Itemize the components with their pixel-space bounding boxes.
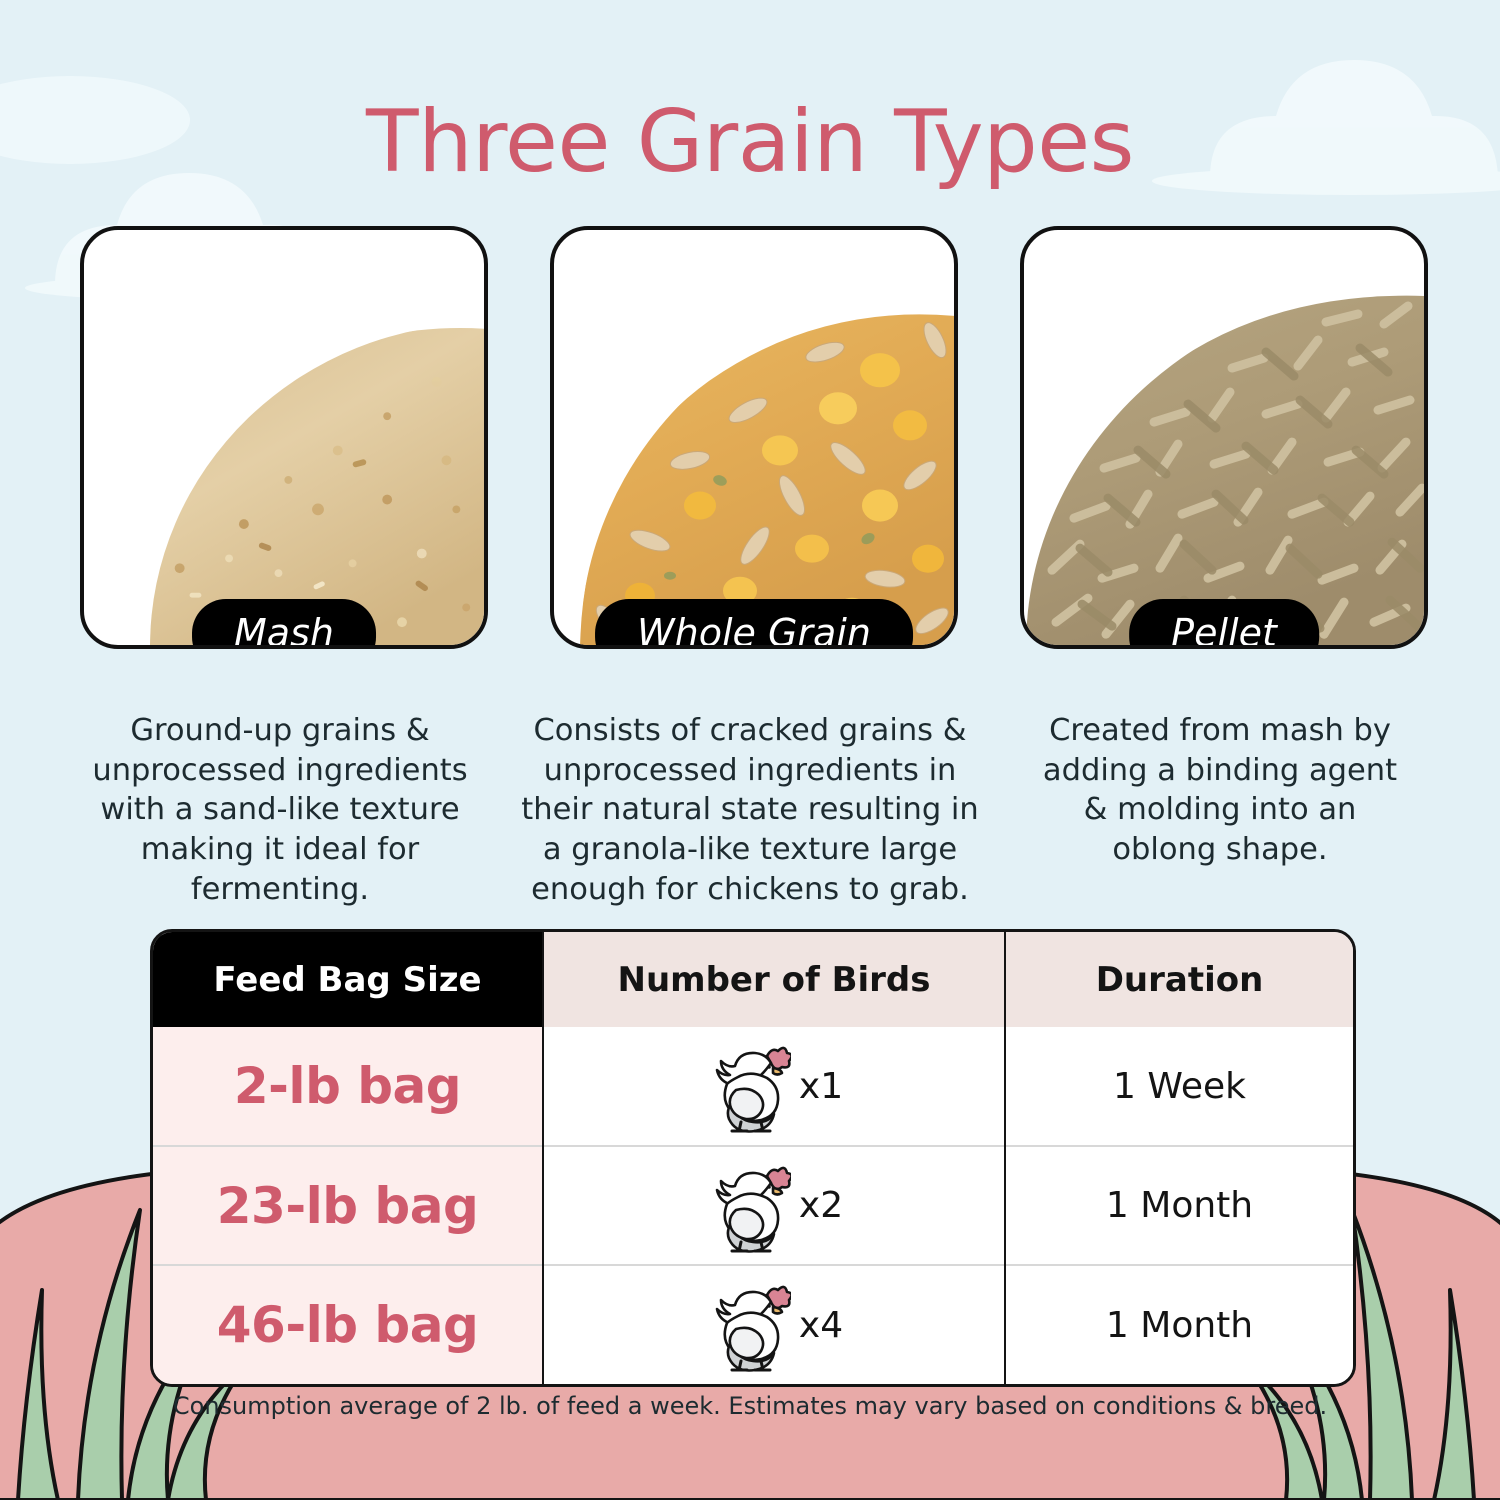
table-footnote: Consumption average of 2 lb. of feed a w… [0,1392,1500,1420]
grain-pill-label: Mash [192,599,376,649]
cell-number-of-birds: x4 [543,1265,1005,1384]
column-header-duration: Duration [1005,932,1353,1027]
table-header-row: Feed Bag Size Number of Birds Duration [153,932,1353,1027]
grain-card-frame: Pellet [1020,226,1428,649]
grain-card-frame: Mash [80,226,488,649]
cell-bag-size: 23-lb bag [153,1146,543,1265]
grain-pill-label: Pellet [1129,599,1319,649]
infographic-stage: Three Grain Types [0,0,1500,1500]
grain-card-frame: Whole Grain [550,226,958,649]
bird-count-label: x2 [799,1185,843,1226]
chicken-eye [767,1185,771,1189]
grain-pill-label: Whole Grain [595,599,913,649]
chicken-eye [767,1065,771,1069]
cell-duration: 1 Month [1005,1146,1353,1265]
grain-card-whole-grain: Whole Grain Consists of cracked grains &… [550,226,950,656]
whole-grain-photo [580,290,956,647]
chicken-icon [705,1038,791,1134]
cell-bag-size: 46-lb bag [153,1265,543,1384]
grain-card-pellet: Pellet Created from mash by adding a bin… [1020,226,1420,656]
grain-description: Created from mash by adding a binding ag… [1040,711,1400,870]
grain-cards: Mash Ground-up grains & unprocessed ingr… [0,226,1500,656]
grain-description: Ground-up grains & unprocessed ingredien… [70,711,490,909]
table-row: 23-lb bag [153,1146,1353,1265]
cell-bag-size: 2-lb bag [153,1027,543,1146]
bird-count-label: x1 [799,1066,843,1107]
chicken-icon [705,1158,791,1254]
chicken-eye [767,1304,771,1308]
cell-duration: 1 Month [1005,1265,1353,1384]
grain-card-mash: Mash Ground-up grains & unprocessed ingr… [80,226,480,656]
chicken-icon [705,1277,791,1373]
table-row: 2-lb bag [153,1027,1353,1146]
feed-table: Feed Bag Size Number of Birds Duration 2… [150,929,1356,1387]
column-header-feed-bag-size: Feed Bag Size [153,932,543,1027]
column-header-number-of-birds: Number of Birds [543,932,1005,1027]
table-row: 46-lb bag [153,1265,1353,1384]
cell-number-of-birds: x1 [543,1027,1005,1146]
page-title: Three Grain Types [0,92,1500,192]
cell-number-of-birds: x2 [543,1146,1005,1265]
cell-duration: 1 Week [1005,1027,1353,1146]
bird-count-label: x4 [799,1305,843,1346]
grain-description: Consists of cracked grains & unprocessed… [515,711,985,909]
pellet-photo [1026,282,1426,647]
